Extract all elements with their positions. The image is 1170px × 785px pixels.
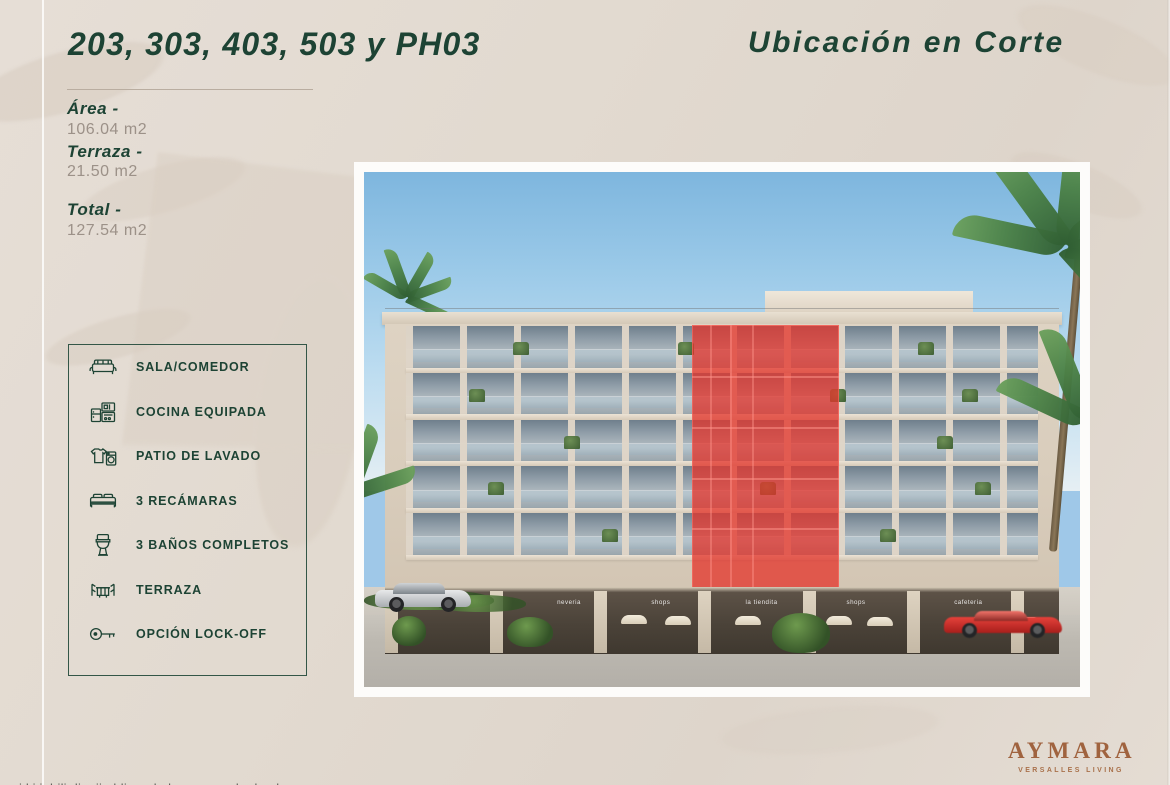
spec-label-total: Total - xyxy=(67,200,317,221)
toilet-icon xyxy=(86,530,120,560)
shop-sign: neveria xyxy=(557,599,581,606)
feature-label: PATIO DE LAVADO xyxy=(136,449,261,463)
brochure-page: 203, 303, 403, 503 y PH03 Ubicación en C… xyxy=(0,0,1170,785)
feature-label: OPCIÓN LOCK-OFF xyxy=(136,627,267,641)
moving-car xyxy=(944,606,1062,638)
feature-item-patio-de-lavado: PATIO DE LAVADO xyxy=(69,434,306,479)
feature-label: 3 BAÑOS COMPLETOS xyxy=(136,538,289,552)
feature-item-terraza: TERRAZA xyxy=(69,568,306,613)
logo-name: AYMARA xyxy=(1008,739,1134,762)
feature-label: 3 RECÁMARAS xyxy=(136,494,238,508)
feature-item-recamaras: 3 RECÁMARAS xyxy=(69,479,306,524)
spec-label-terrace: Terraza - xyxy=(67,142,317,163)
feature-label: COCINA EQUIPADA xyxy=(136,405,267,419)
feature-item-cocina-equipada: COCINA EQUIPADA xyxy=(69,390,306,435)
parked-car xyxy=(375,582,471,612)
key-icon xyxy=(86,619,120,649)
next-page-text-sliver: mi ki iobili di mii oldi aa de lea meer … xyxy=(8,781,287,785)
area-specs: Área - 106.04 m2 Terraza - 21.50 m2 Tota… xyxy=(67,99,317,243)
left-margin-rule xyxy=(42,0,44,785)
penthouse-volume xyxy=(765,291,973,314)
terrace-icon xyxy=(86,575,120,605)
roof-railing xyxy=(385,308,1058,309)
feature-item-banos: 3 BAÑOS COMPLETOS xyxy=(69,523,306,568)
feature-item-lock-off: OPCIÓN LOCK-OFF xyxy=(69,612,306,657)
laundry-icon xyxy=(86,441,120,471)
sofa-icon xyxy=(86,352,120,382)
building-rendering: pasteles neveria shops la tiendita shops… xyxy=(364,172,1080,687)
title-divider xyxy=(67,89,313,90)
features-list: SALA/COMEDOR COCINA EQUIPADA xyxy=(68,344,307,676)
shop-sign: shops xyxy=(651,599,670,606)
shop-sign: shops xyxy=(847,599,866,606)
logo-tagline: VERSALLES LIVING xyxy=(1008,767,1134,774)
feature-label: TERRAZA xyxy=(136,583,202,597)
highlighted-unit-overlay xyxy=(692,325,839,588)
page-title: 203, 303, 403, 503 y PH03 xyxy=(68,26,481,63)
spec-value-area: 106.04 m2 xyxy=(67,120,317,141)
spec-value-total: 127.54 m2 xyxy=(67,221,317,242)
bed-icon xyxy=(86,486,120,516)
spec-label-area: Área - xyxy=(67,99,317,120)
rendering-frame: pasteles neveria shops la tiendita shops… xyxy=(355,163,1089,696)
kitchen-icon xyxy=(86,397,120,427)
brand-logo: AYMARA VERSALLES LIVING xyxy=(1008,739,1134,774)
section-title: Ubicación en Corte xyxy=(748,26,1065,60)
spec-value-terrace: 21.50 m2 xyxy=(67,162,317,183)
feature-item-sala-comedor: SALA/COMEDOR xyxy=(69,345,306,390)
spec-spacer xyxy=(67,184,317,200)
shop-sign: la tiendita xyxy=(746,599,778,606)
feature-label: SALA/COMEDOR xyxy=(136,360,250,374)
